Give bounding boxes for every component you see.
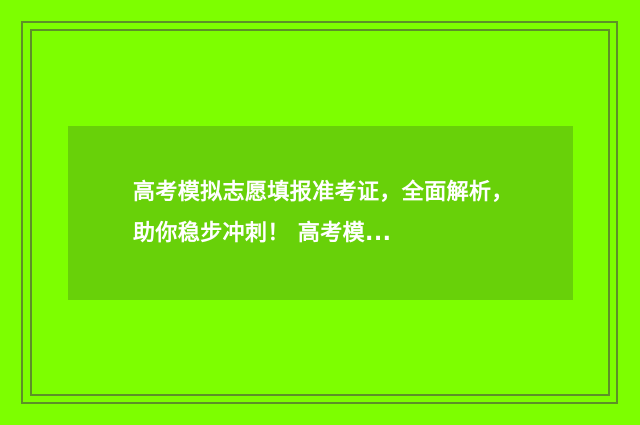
headline-text: 高考模拟志愿填报准考证，全面解析，助你稳步冲刺！ 高考模... bbox=[68, 172, 573, 254]
headline-panel: 高考模拟志愿填报准考证，全面解析，助你稳步冲刺！ 高考模... bbox=[68, 126, 573, 300]
poster-canvas: 高考模拟志愿填报准考证，全面解析，助你稳步冲刺！ 高考模... bbox=[0, 0, 640, 425]
